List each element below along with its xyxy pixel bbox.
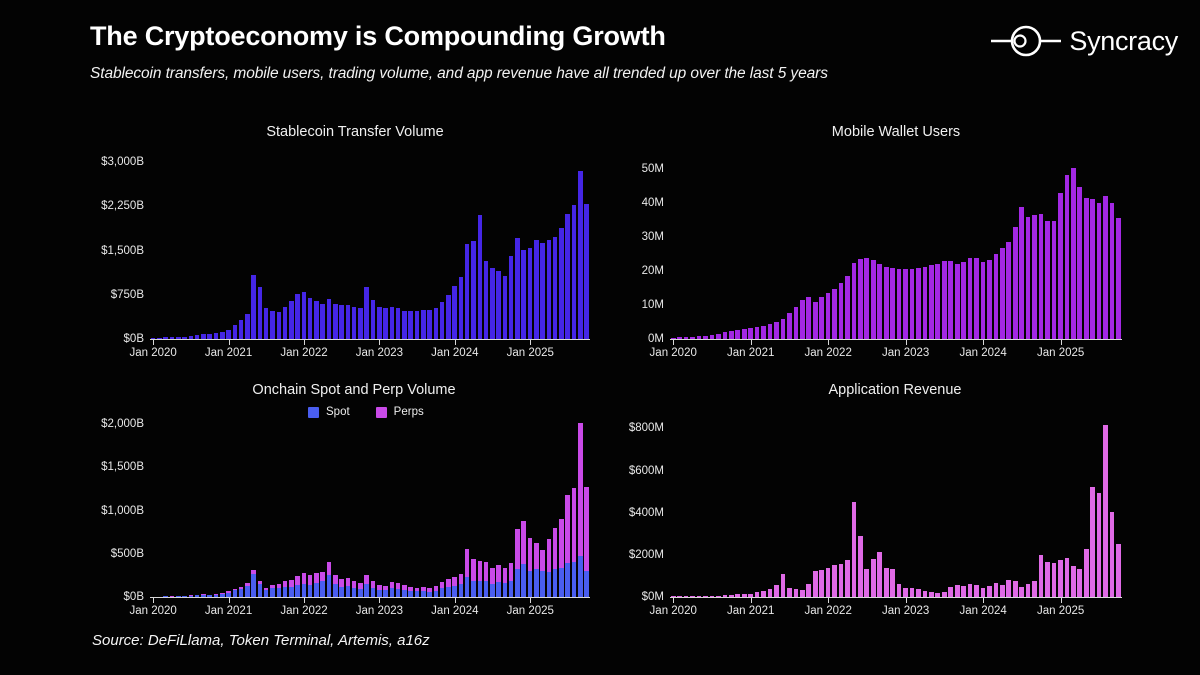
x-axis-tick-mark [229,598,230,603]
bar-segment [781,319,786,339]
bar-segment-perps [496,565,501,582]
bar-segment [220,332,225,339]
slide-root: The Cryptoeconomy is Compounding Growth … [0,0,1200,675]
x-axis-tick-label: Jan 2024 [431,605,478,617]
bar [583,420,589,597]
bar-segment [559,228,564,339]
x-axis-tick-label: Jan 2021 [727,347,774,359]
x-axis-tick-mark [906,598,907,603]
x-axis-tick-label: Jan 2022 [805,605,852,617]
bar-segment [968,584,973,597]
bar-segment [258,287,263,339]
x-axis-line [150,597,590,598]
bar-segment-spot [289,587,294,597]
bar-segment-perps [515,529,520,569]
bar-segment [806,297,811,339]
bar-segment [1065,558,1070,597]
bar-segment-spot [440,588,445,597]
bar-segment [839,283,844,340]
bar-segment-perps [490,568,495,584]
bar-segment-spot [239,589,244,597]
bar-segment [916,268,921,339]
x-axis-tick-label: Jan 2021 [205,605,252,617]
bar-segment [283,307,288,339]
bar-segment [377,307,382,339]
y-axis-tick-label: $0M [642,591,664,603]
bar-segment [832,565,837,597]
bar-segment [845,276,850,339]
bar-segment-spot [396,589,401,597]
bar-segment [1052,221,1057,339]
bar-segment [864,569,869,597]
bar-segment [748,328,753,339]
bar-segment [295,294,300,339]
x-axis-tick-label: Jan 2021 [205,347,252,359]
bar-segment-spot [402,590,407,597]
bar-segment-spot [484,581,489,597]
page-subtitle: Stablecoin transfers, mobile users, trad… [90,65,1180,83]
bar-segment-perps [572,488,577,562]
bar-segment-spot [258,584,263,597]
bar-segment [981,588,986,597]
x-axis-tick-mark [751,598,752,603]
y-axis: $0M$200M$400M$600M$800M [608,420,664,597]
bar-series [670,162,1122,339]
chart-panel-onchain-spot-and-perp-volume: Onchain Spot and Perp Volume $0B$500B$1,… [78,378,608,623]
bar-segment-spot [528,571,533,597]
bar-segment-perps [314,573,319,583]
bar-segment [1006,580,1011,597]
bar-segment [1045,562,1050,597]
y-axis-tick-label: $0B [124,591,144,603]
bar-segment [806,584,811,597]
x-axis-tick-label: Jan 2022 [280,605,327,617]
bar-segment [1013,581,1018,597]
x-axis-line [150,339,590,340]
bar-segment [327,299,332,339]
bar-segment [987,586,992,597]
bar-segment [787,588,792,597]
x-axis-tick-mark [379,340,380,345]
y-axis-tick-label: $1,500B [101,245,144,257]
bar-segment [1006,242,1011,339]
x-axis-tick-mark [379,598,380,603]
y-axis-tick-label: 0M [648,333,664,345]
bar-segment [929,265,934,339]
x-axis-tick-label: Jan 2020 [650,347,697,359]
bar-segment [916,589,921,597]
bar-segment [723,332,728,339]
x-axis-tick-mark [983,598,984,603]
bar-segment [794,307,799,339]
y-axis-tick-label: $800M [629,422,664,434]
bar-segment [302,292,307,339]
bar-segment [910,588,915,597]
y-axis-tick-label: $400M [629,507,664,519]
bar-segment-spot [540,571,545,597]
bar-segment [1058,193,1063,339]
bar-segment-perps [320,572,325,581]
bar-segment-perps [295,576,300,585]
bar-segment-perps [364,575,369,584]
bar-segment [1077,187,1082,339]
bar-segment [845,560,850,597]
bar-segment [864,258,869,339]
y-axis: $0B$750B$1,500B$2,250B$3,000B [78,162,144,339]
bar-segment-perps [339,579,344,586]
y-axis-tick-label: 40M [642,197,664,209]
bar-segment [364,287,369,339]
bar-segment [1090,487,1095,597]
bar-segment-perps [559,519,564,567]
x-axis-tick-mark [455,340,456,345]
bar-segment-spot [534,569,539,597]
bar-segment [774,585,779,597]
x-axis-tick-label: Jan 2024 [959,347,1006,359]
bar-segment [547,240,552,339]
bar-segment [948,587,953,597]
bar-segment [1084,549,1089,597]
bar-segment [553,237,558,339]
bar-segment-spot [352,588,357,597]
bar-segment [1058,560,1063,597]
bar-segment [871,559,876,597]
legend-label: Spot [326,406,350,418]
bar-segment [826,293,831,339]
bar-segment [540,243,545,339]
bar-segment [270,311,275,339]
bar-segment-spot [302,584,307,597]
bar-segment-spot [283,587,288,597]
bar-segment [308,298,313,339]
bar-segment [1065,175,1070,339]
bar-segment-spot [503,583,508,597]
bar-segment-spot [264,590,269,597]
x-axis-tick-label: Jan 2022 [280,347,327,359]
bar-segment-spot [245,586,250,597]
x-axis-tick-label: Jan 2025 [507,605,554,617]
bar-segment [346,305,351,339]
bar-segment [832,289,837,339]
bar-segment [584,204,589,339]
bar-segment [245,314,250,339]
bar-segment-perps [565,495,570,563]
bar-segment-perps [540,550,545,572]
y-axis-tick-label: 10M [642,299,664,311]
x-axis-tick-mark [906,340,907,345]
bar-segment [509,256,514,339]
chart-title: Stablecoin Transfer Volume [78,124,608,140]
x-axis-line [670,597,1122,598]
bar-segment [289,301,294,339]
bar-segment [735,330,740,339]
bar-segment [1019,207,1024,339]
y-axis-tick-label: $3,000B [101,156,144,168]
bar-segment-perps [478,561,483,581]
bar-segment [1019,587,1024,597]
x-axis-tick-label: Jan 2020 [650,605,697,617]
bar-segment [781,574,786,597]
bar-segment [852,502,857,597]
bar [1115,162,1121,339]
charts-grid: Stablecoin Transfer Volume $0B$750B$1,50… [0,120,1200,630]
bar-segment-spot [478,581,483,597]
x-axis-tick-mark [1061,340,1062,345]
bar-segment-spot [559,568,564,597]
x-axis-tick-label: Jan 2024 [431,347,478,359]
bar-segment [339,305,344,339]
bar-segment-spot [584,571,589,597]
syncracy-eclipse-icon [989,22,1063,60]
bar-segment-spot [383,590,388,597]
bar-segment-spot [390,588,395,597]
bar-segment [1000,585,1005,597]
bar-segment [1116,218,1121,339]
chart-panel-mobile-wallet-users: Mobile Wallet Users 0M10M20M30M40M50MJan… [608,120,1168,365]
bar-segment [955,264,960,339]
bar-segment-perps [352,581,357,588]
bar-segment [578,171,583,339]
y-axis-tick-label: 50M [642,163,664,175]
bar-segment-perps [333,575,338,584]
bar-segment-spot [515,569,520,597]
chart-plot: $0B$500B$1,000B$1,500B$2,000BJan 2020Jan… [150,420,590,623]
bar-segment-spot [509,581,514,597]
bar-segment-spot [471,581,476,597]
bar-segment [264,308,269,339]
bar-segment-perps [327,562,332,575]
bar-segment-perps [471,559,476,581]
bar-segment [277,312,282,339]
legend-swatch [308,407,319,418]
x-axis-tick-mark [229,340,230,345]
bar-segment [521,250,526,339]
y-axis-tick-label: $1,000B [101,505,144,517]
x-axis-tick-mark [828,598,829,603]
bar-segment [935,264,940,339]
bar-segment [1071,168,1076,339]
bar-segment-perps [528,538,533,571]
bar-segment-spot [277,588,282,597]
bar-segment [910,269,915,339]
x-axis-tick-mark [153,598,154,603]
bar-segment [515,238,520,339]
bar-segment-perps [509,563,514,580]
bar-segment-spot [314,583,319,597]
bar-segment [839,564,844,597]
bar-segment [572,205,577,339]
bar-segment [471,241,476,339]
legend-item-spot[interactable]: Spot [308,406,350,418]
y-axis: 0M10M20M30M40M50M [608,162,664,339]
bar-segment-perps [521,521,526,564]
bar-segment [408,311,413,339]
bar-segment [1103,425,1108,597]
bar-segment [434,308,439,339]
chart-title: Mobile Wallet Users [608,124,1168,140]
bar-segment [465,244,470,339]
bar-segment [239,320,244,339]
bar-segment-spot [371,588,376,597]
bar-segment [1097,493,1102,597]
x-axis-tick-label: Jan 2023 [882,347,929,359]
x-axis-tick-label: Jan 2021 [727,605,774,617]
bar-segment [415,311,420,339]
bar-segment-perps [553,528,558,569]
bar-segment [897,269,902,339]
bar-segment [1039,214,1044,339]
bar-segment [819,570,824,597]
bar-segment [1084,198,1089,339]
bar-segment [955,585,960,597]
y-axis-tick-label: $200M [629,549,664,561]
chart-plot: $0M$200M$400M$600M$800MJan 2020Jan 2021J… [670,420,1122,623]
x-axis-tick-label: Jan 2020 [129,605,176,617]
legend-item-perps[interactable]: Perps [376,406,424,418]
bar-segment-spot [446,587,451,597]
bar-segment-spot [346,586,351,597]
bar-segment-perps [503,568,508,583]
bar-segment [948,261,953,339]
bar-segment-spot [251,574,256,597]
brand-name: Syncracy [1069,28,1178,55]
bar-segment [1013,227,1018,339]
bar-segment [427,310,432,339]
bar-segment [742,329,747,339]
bar-segment-spot [565,563,570,597]
bar-segment [961,262,966,339]
legend-label: Perps [394,406,424,418]
bar-segment [768,324,773,339]
bar-segment [729,331,734,339]
y-axis-tick-label: 30M [642,231,664,243]
bar-segment [813,571,818,597]
x-axis-tick-label: Jan 2025 [507,347,554,359]
bar-segment [794,589,799,597]
bar-segment [877,552,882,597]
x-axis-tick-mark [751,340,752,345]
bar-segment [871,260,876,339]
bar-segment [440,302,445,339]
bar-segment [884,267,889,339]
bar-segment [490,268,495,339]
x-axis-tick-label: Jan 2025 [1037,605,1084,617]
bar-segment [884,568,889,598]
y-axis-tick-label: $2,000B [101,418,144,430]
bar-segment-spot [490,584,495,597]
bar-segment [446,295,451,339]
bar-segment [484,261,489,339]
bar-segment-perps [302,573,307,584]
bar-segment [858,259,863,339]
bar-segment [1103,196,1108,339]
bar-segment [358,308,363,339]
bar-segment [877,264,882,339]
bar-segment-perps [578,423,583,555]
bar-segment-spot [553,569,558,597]
x-axis-line [670,339,1122,340]
bar-segment [1052,563,1057,597]
bar-segment [800,300,805,339]
bar-segment [503,276,508,339]
bar-segment-spot [452,586,457,597]
x-axis-tick-mark [530,598,531,603]
bar-segment-spot [572,562,577,597]
bar-segment [961,586,966,597]
bar-segment [858,536,863,597]
bar-segment [534,240,539,339]
bar-segment [903,269,908,339]
bar-segment [890,268,895,339]
bar-segment-spot [333,584,338,597]
chart-legend: SpotPerps [308,406,424,418]
x-axis-tick-mark [530,340,531,345]
bar-segment [787,313,792,339]
bar-segment [1116,544,1121,597]
bar-segment [768,589,773,597]
x-axis-tick-label: Jan 2023 [356,347,403,359]
bar-segment [1026,217,1031,339]
bar-segment [987,260,992,339]
bar-segment-spot [547,572,552,597]
bar-segment [565,214,570,339]
x-axis-tick-label: Jan 2024 [959,605,1006,617]
bar-segment [813,302,818,339]
bar-segment [1077,569,1082,597]
bar-segment [974,585,979,597]
bar-segment-spot [233,590,238,597]
chart-title: Application Revenue [608,382,1168,398]
bar-segment-perps [452,577,457,586]
bar-segment [333,304,338,339]
bar-segment [402,311,407,339]
x-axis-tick-label: Jan 2023 [882,605,929,617]
bar-segment [826,568,831,598]
bar-segment-perps [534,543,539,569]
bar-segment [452,286,457,339]
bar-segment-spot [339,587,344,597]
bar-segment [314,301,319,339]
bar-segment [774,322,779,339]
bar-segment [233,325,238,339]
bar [583,162,589,339]
x-axis-tick-mark [673,598,674,603]
bar-segment [371,300,376,339]
bar-segment [226,330,231,339]
x-axis-tick-mark [153,340,154,345]
bar-segment [942,261,947,339]
bar-segment [352,307,357,339]
bar-segment-spot [377,590,382,597]
x-axis-tick-mark [983,340,984,345]
x-axis-tick-label: Jan 2023 [356,605,403,617]
x-axis-tick-mark [1061,598,1062,603]
bar-series [150,162,590,339]
bar-segment [981,262,986,339]
x-axis-tick-mark [304,340,305,345]
y-axis-tick-label: $500B [111,548,144,560]
y-axis-tick-label: $600M [629,465,664,477]
bar-series [670,420,1122,597]
bar-segment [994,583,999,597]
bar-segment [1110,512,1115,597]
bar-segment [1000,248,1005,339]
bar-segment-spot [364,584,369,597]
chart-panel-application-revenue: Application Revenue $0M$200M$400M$600M$8… [608,378,1168,623]
bar-segment-spot [465,577,470,597]
x-axis-tick-mark [673,340,674,345]
y-axis: $0B$500B$1,000B$1,500B$2,000B [78,420,144,597]
